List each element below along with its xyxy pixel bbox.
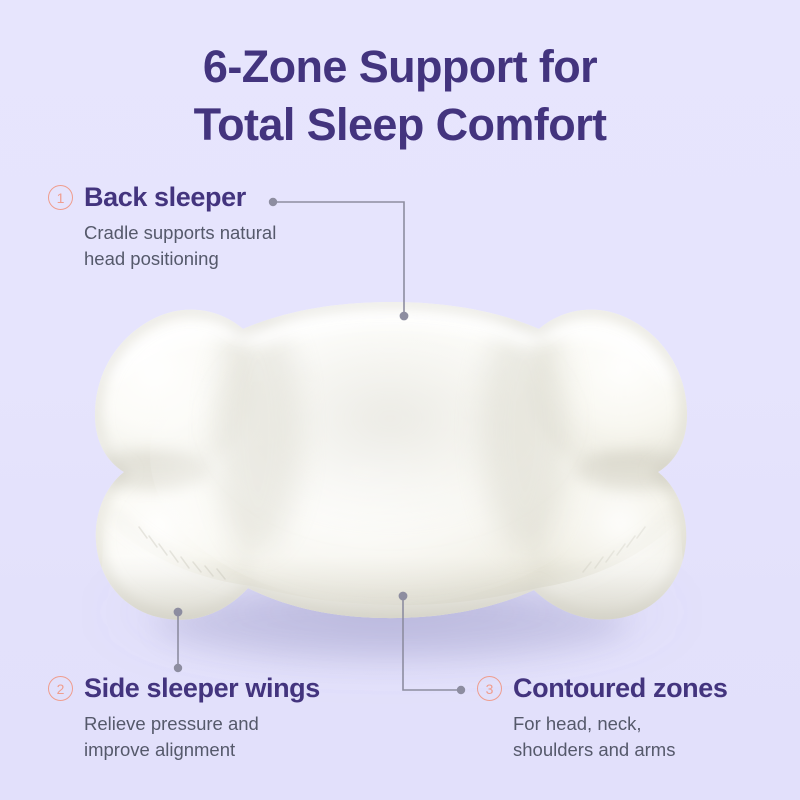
callout-3-desc-line-2: shoulders and arms <box>513 737 728 763</box>
callout-side-sleeper-wings[interactable]: 2 Side sleeper wings Relieve pressure an… <box>48 675 320 762</box>
leader-line-1 <box>270 199 408 320</box>
callout-3-number-badge: 3 <box>477 676 502 701</box>
callout-1-description: Cradle supports natural head positioning <box>84 220 276 271</box>
callout-2-description: Relieve pressure and improve alignment <box>84 711 320 762</box>
callout-3-head: 3 Contoured zones <box>477 675 728 702</box>
infographic-canvas: 6-Zone Support for Total Sleep Comfort <box>0 0 800 800</box>
callout-1-desc-line-1: Cradle supports natural <box>84 220 276 246</box>
callout-2-head: 2 Side sleeper wings <box>48 675 320 702</box>
callout-2-desc-line-1: Relieve pressure and <box>84 711 320 737</box>
callout-2-title: Side sleeper wings <box>84 675 320 702</box>
callout-1-head: 1 Back sleeper <box>48 184 276 211</box>
callout-1-desc-line-2: head positioning <box>84 246 276 272</box>
callout-back-sleeper[interactable]: 1 Back sleeper Cradle supports natural h… <box>48 184 276 271</box>
callout-3-desc-line-1: For head, neck, <box>513 711 728 737</box>
leader-line-3 <box>399 592 464 693</box>
leader-line-2 <box>174 608 181 671</box>
callout-1-title: Back sleeper <box>84 184 246 211</box>
callout-3-title: Contoured zones <box>513 675 728 702</box>
callout-1-number-badge: 1 <box>48 185 73 210</box>
callout-2-desc-line-2: improve alignment <box>84 737 320 763</box>
callout-3-description: For head, neck, shoulders and arms <box>513 711 728 762</box>
callout-contoured-zones[interactable]: 3 Contoured zones For head, neck, should… <box>477 675 728 762</box>
callout-2-number-badge: 2 <box>48 676 73 701</box>
